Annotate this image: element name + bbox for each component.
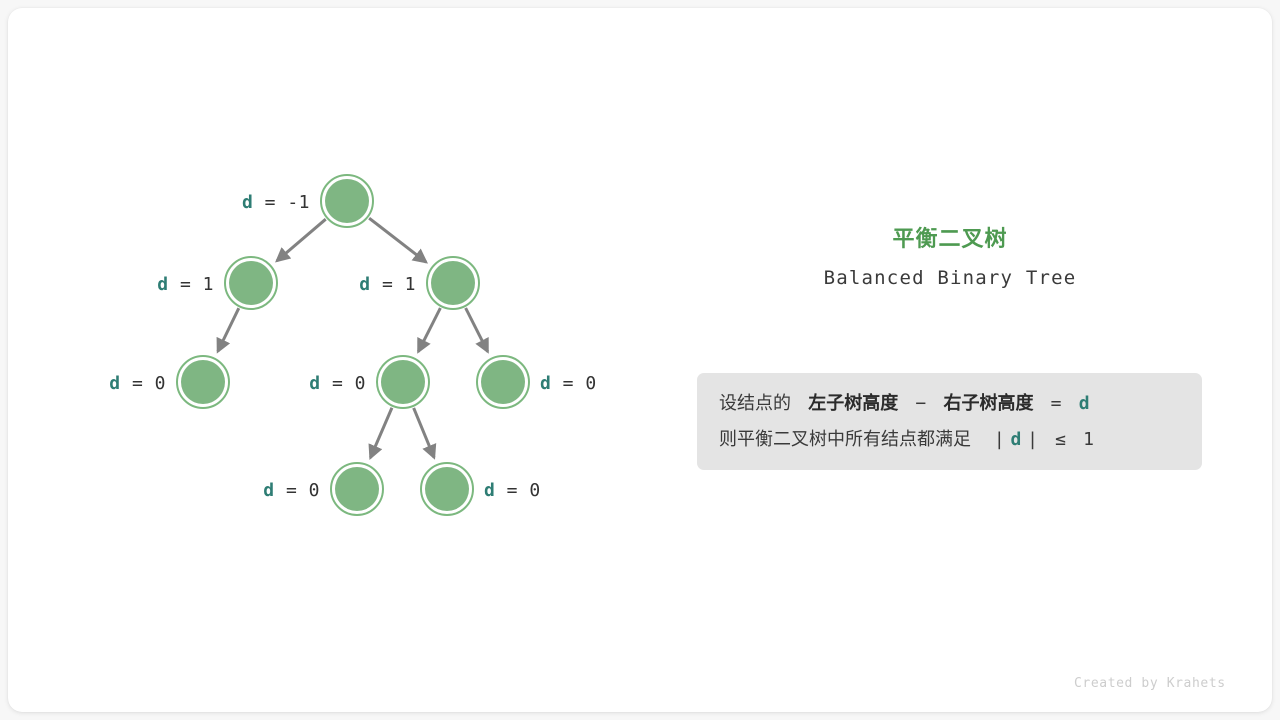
tree-nodes bbox=[177, 175, 529, 515]
label-variable-d: d bbox=[109, 373, 120, 394]
term-left-subtree-height: 左子树高度 bbox=[808, 393, 898, 414]
label-value: = 0 bbox=[495, 480, 540, 501]
tree-edge bbox=[218, 308, 239, 351]
equals-operator: = bbox=[1051, 393, 1062, 414]
node-circle bbox=[325, 179, 369, 223]
tree-edge bbox=[418, 308, 440, 352]
label-variable-d: d bbox=[484, 480, 495, 501]
label-value: = 0 bbox=[275, 480, 320, 501]
node-balance-label: d = -1 bbox=[242, 192, 310, 213]
node-balance-label: d = 0 bbox=[540, 373, 597, 394]
node-circle bbox=[181, 360, 225, 404]
variable-d: d bbox=[1079, 393, 1090, 414]
tree-edges bbox=[218, 218, 488, 458]
node-circle bbox=[335, 467, 379, 511]
label-variable-d: d bbox=[157, 274, 168, 295]
credit-text: Created by Krahets bbox=[1074, 676, 1226, 691]
panel-title-english: Balanced Binary Tree bbox=[690, 263, 1210, 293]
tree-node bbox=[377, 356, 429, 408]
tree-edge bbox=[414, 408, 434, 458]
label-variable-d: d bbox=[242, 192, 253, 213]
variable-d-abs: d bbox=[1011, 429, 1022, 450]
tree-node-labels: d = -1d = 1d = 1d = 0d = 0d = 0d = 0d = … bbox=[109, 192, 596, 501]
binary-tree-diagram: d = -1d = 1d = 1d = 0d = 0d = 0d = 0d = … bbox=[0, 0, 1280, 720]
node-circle bbox=[481, 360, 525, 404]
definition-line-2: 则平衡二叉树中所有结点都满足 | d | ≤ 1 bbox=[719, 422, 1180, 458]
label-value: = 0 bbox=[121, 373, 166, 394]
node-balance-label: d = 0 bbox=[263, 480, 320, 501]
node-balance-label: d = 0 bbox=[109, 373, 166, 394]
node-balance-label: d = 1 bbox=[157, 274, 214, 295]
definition-box: 设结点的 左子树高度 − 右子树高度 = d 则平衡二叉树中所有结点都满足 | … bbox=[697, 373, 1202, 470]
label-variable-d: d bbox=[263, 480, 274, 501]
term-right-subtree-height: 右子树高度 bbox=[943, 393, 1033, 414]
node-circle bbox=[431, 261, 475, 305]
tree-node bbox=[477, 356, 529, 408]
node-circle bbox=[381, 360, 425, 404]
label-variable-d: d bbox=[359, 274, 370, 295]
constraint-prefix: 则平衡二叉树中所有结点都满足 bbox=[719, 429, 971, 450]
tree-edge bbox=[277, 219, 326, 261]
tree-edge bbox=[370, 408, 392, 458]
tree-edge bbox=[466, 308, 488, 352]
label-value: = 1 bbox=[169, 274, 214, 295]
less-equal-operator: ≤ bbox=[1055, 429, 1066, 450]
minus-operator: − bbox=[915, 393, 926, 414]
definition-line-1: 设结点的 左子树高度 − 右子树高度 = d bbox=[719, 386, 1180, 422]
node-balance-label: d = 0 bbox=[309, 373, 366, 394]
tree-node bbox=[321, 175, 373, 227]
label-variable-d: d bbox=[540, 373, 551, 394]
label-value: = 1 bbox=[371, 274, 416, 295]
label-variable-d: d bbox=[309, 373, 320, 394]
tree-node bbox=[427, 257, 479, 309]
node-circle bbox=[229, 261, 273, 305]
panel-title-chinese: 平衡二叉树 bbox=[690, 225, 1210, 255]
node-balance-label: d = 0 bbox=[484, 480, 541, 501]
tree-node bbox=[421, 463, 473, 515]
diagram-canvas: d = -1d = 1d = 1d = 0d = 0d = 0d = 0d = … bbox=[0, 0, 1280, 720]
abs-bar-left: | bbox=[994, 429, 1005, 450]
tree-node bbox=[331, 463, 383, 515]
label-value: = 0 bbox=[321, 373, 366, 394]
tree-node bbox=[225, 257, 277, 309]
label-value: = 0 bbox=[551, 373, 596, 394]
tree-node bbox=[177, 356, 229, 408]
constraint-value: 1 bbox=[1083, 429, 1094, 450]
label-value: = -1 bbox=[253, 192, 310, 213]
tree-edge bbox=[369, 218, 426, 262]
definition-prefix: 设结点的 bbox=[719, 393, 791, 414]
info-panel: 平衡二叉树 Balanced Binary Tree bbox=[690, 225, 1210, 293]
node-balance-label: d = 1 bbox=[359, 274, 416, 295]
node-circle bbox=[425, 467, 469, 511]
abs-bar-right: | bbox=[1027, 429, 1038, 450]
